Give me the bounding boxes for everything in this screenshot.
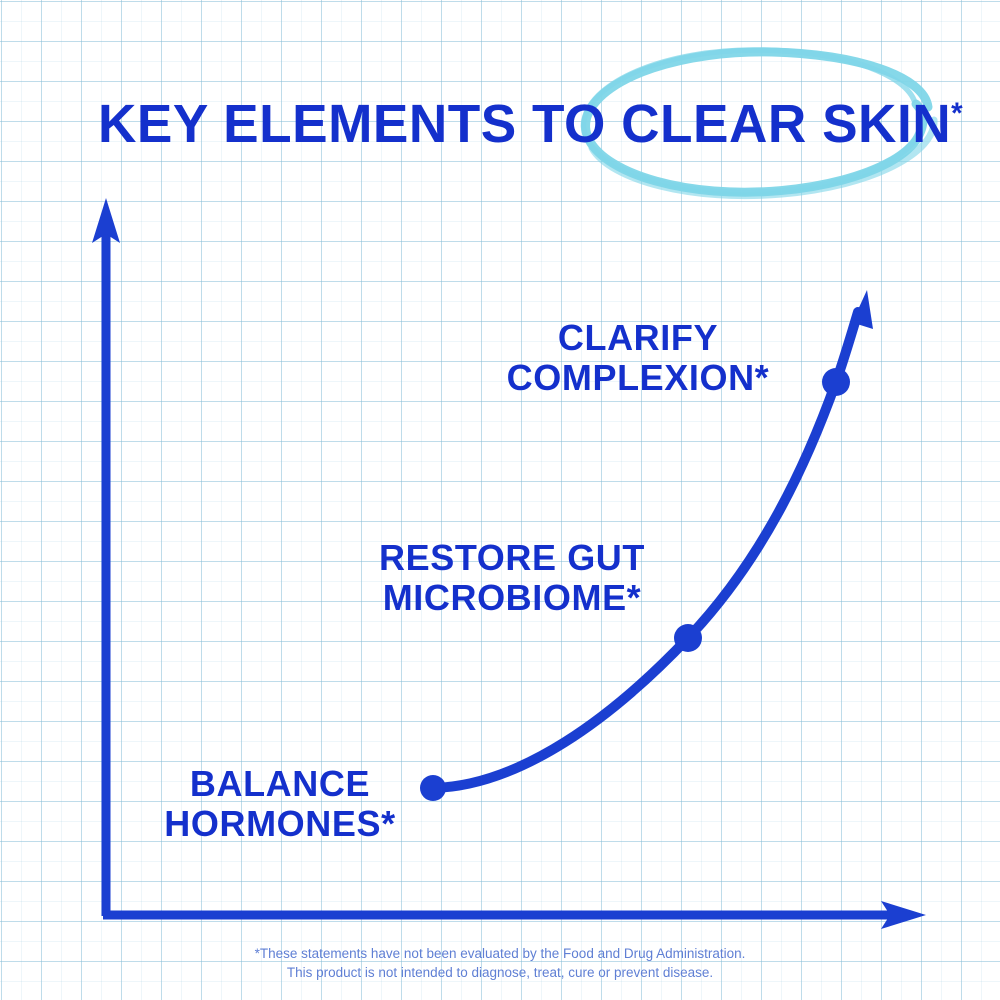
label-balance-hormones: BALANCE HORMONES* <box>130 764 430 843</box>
headline-container: KEY ELEMENTS TO CLEAR SKIN* <box>98 96 928 160</box>
label-clarify-complexion: CLARIFY COMPLEXION* <box>468 318 808 397</box>
label-restore-gut-microbiome: RESTORE GUT MICROBIOME* <box>332 538 692 617</box>
footer-line-2: This product is not intended to diagnose… <box>0 963 1000 982</box>
y-axis <box>92 198 120 916</box>
page-title: KEY ELEMENTS TO CLEAR SKIN* <box>98 96 916 152</box>
footer-line-1: *These statements have not been evaluate… <box>0 944 1000 963</box>
data-point-restore-microbiome <box>674 624 702 652</box>
infographic-canvas: KEY ELEMENTS TO CLEAR SKIN* CLARIFY COMP… <box>0 0 1000 1000</box>
x-axis <box>103 901 926 929</box>
page-title-footnote-marker: * <box>951 97 963 130</box>
page-title-text: KEY ELEMENTS TO CLEAR SKIN <box>98 94 951 154</box>
footer-disclaimer: *These statements have not been evaluate… <box>0 944 1000 982</box>
data-point-clarify-complexion <box>822 368 850 396</box>
